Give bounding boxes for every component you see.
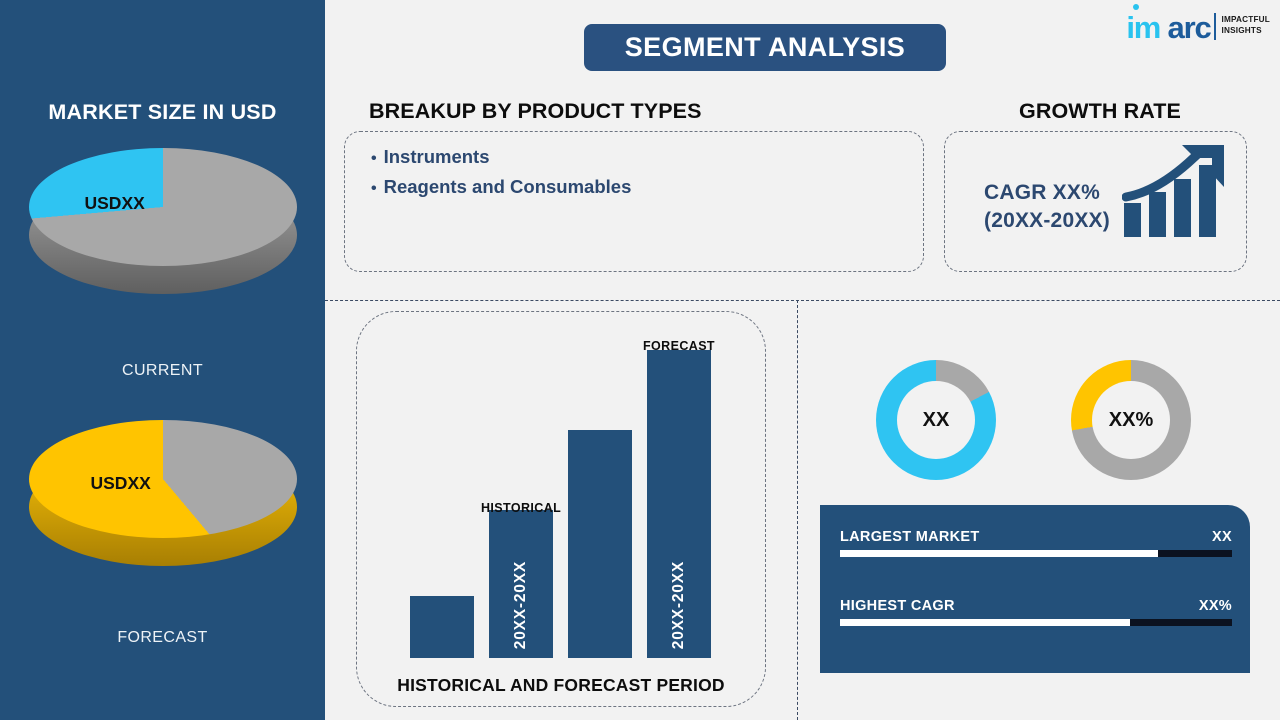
product-types-card: • Instruments • Reagents and Consumables <box>344 131 924 272</box>
stat-value: XX% <box>1199 598 1232 614</box>
market-size-panel: MARKET SIZE IN USD USDXX CURRENT USDXX F… <box>0 0 325 720</box>
bar-chart-axis-title: HISTORICAL AND FORECAST PERIOD <box>356 675 766 696</box>
status-badge: HIGHEST CAGR <box>840 598 955 614</box>
donut-center-label: XX <box>923 409 950 432</box>
progress-track <box>840 619 1232 626</box>
progress-track <box>840 550 1232 557</box>
product-types-heading: BREAKUP BY PRODUCT TYPES <box>369 99 702 124</box>
cagr-text: CAGR XX% (20XX-20XX) <box>984 179 1110 235</box>
logo-wordmark: im arc <box>1126 12 1210 43</box>
stat-row-highest-cagr: HIGHEST CAGR XX% <box>840 598 1232 626</box>
pie-top-face <box>29 420 297 538</box>
forecast-pie-group: USDXX <box>0 420 325 575</box>
progress-fill <box>840 619 1130 626</box>
status-badge: LARGEST MARKET <box>840 529 980 545</box>
forecast-annotation: FORECAST <box>639 339 719 353</box>
current-pie-chart: USDXX <box>29 148 297 303</box>
logo-wordmark-part2: arc <box>1168 10 1211 45</box>
logo-wordmark-part1: im <box>1126 10 1160 45</box>
table-row: 20XX-20XX <box>647 350 711 658</box>
current-pie-label: USDXX <box>85 193 145 214</box>
stat-row-largest-market: LARGEST MARKET XX <box>840 529 1232 557</box>
logo-tagline: IMPACTFUL INSIGHTS <box>1222 12 1271 36</box>
page-title: SEGMENT ANALYSIS <box>625 32 905 63</box>
panel-title: MARKET SIZE IN USD <box>0 100 325 125</box>
imarc-logo: im arc IMPACTFUL INSIGHTS <box>1126 12 1270 43</box>
cagr-line-2: (20XX-20XX) <box>984 207 1110 235</box>
cagr-line-1: CAGR XX% <box>984 179 1110 207</box>
stat-header: HIGHEST CAGR XX% <box>840 598 1232 614</box>
donut-chart-percent: XX% <box>1071 360 1191 480</box>
table-row <box>410 596 474 658</box>
historical-forecast-bar-chart: 20XX-20XX HISTORICAL 20XX-20XX FORECAST <box>356 311 766 707</box>
market-stats-card: LARGEST MARKET XX HIGHEST CAGR XX% <box>820 505 1250 673</box>
page-title-badge: SEGMENT ANALYSIS <box>584 24 946 71</box>
historical-annotation: HISTORICAL <box>481 501 561 515</box>
donut-chart-value: XX <box>876 360 996 480</box>
progress-fill <box>840 550 1158 557</box>
bullet-icon: • <box>371 146 377 172</box>
list-item-label: Reagents and Consumables <box>384 172 632 202</box>
horizontal-divider <box>325 300 1280 301</box>
list-item-label: Instruments <box>384 142 490 172</box>
logo-divider <box>1214 13 1216 40</box>
list-item: • Instruments <box>371 142 923 172</box>
forecast-pie-caption: FORECAST <box>0 629 325 647</box>
product-types-list: • Instruments • Reagents and Consumables <box>345 132 923 202</box>
bullet-icon: • <box>371 176 377 202</box>
infographic-page: MARKET SIZE IN USD USDXX CURRENT USDXX F… <box>0 0 1280 720</box>
donut-center-label: XX% <box>1109 409 1153 432</box>
forecast-pie-label: USDXX <box>91 473 151 494</box>
bar-inner-label: 20XX-20XX <box>512 561 530 649</box>
forecast-pie-chart: USDXX <box>29 420 297 575</box>
growth-rate-heading: GROWTH RATE <box>944 99 1256 124</box>
growth-arrow-bars-icon <box>1122 143 1230 244</box>
current-pie-group: USDXX <box>0 148 325 303</box>
stat-header: LARGEST MARKET XX <box>840 529 1232 545</box>
table-row: 20XX-20XX <box>489 510 553 658</box>
logo-tagline-line2: INSIGHTS <box>1222 26 1271 37</box>
logo-tagline-line1: IMPACTFUL <box>1222 15 1271 26</box>
list-item: • Reagents and Consumables <box>371 172 923 202</box>
vertical-divider <box>797 300 798 720</box>
pie-top-face <box>29 148 297 266</box>
bar-inner-label: 20XX-20XX <box>670 561 688 649</box>
table-row <box>568 430 632 658</box>
current-pie-caption: CURRENT <box>0 362 325 380</box>
stat-value: XX <box>1212 529 1232 545</box>
